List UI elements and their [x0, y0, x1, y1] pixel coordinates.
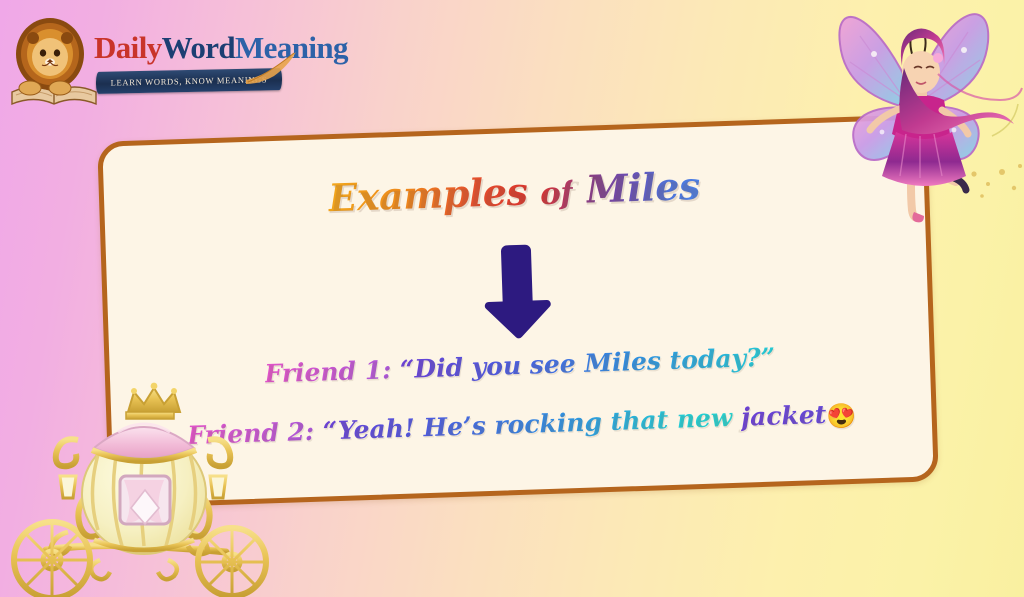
- speaker-label-2: Friend 2:: [187, 417, 315, 450]
- content-card: Examples of Miles Friend 1: “Did you see…: [97, 114, 939, 508]
- feather-icon: [244, 50, 298, 90]
- title-word-of: of: [540, 175, 574, 212]
- brand-logo: DailyWordMeaning Learn Words, Know Meani…: [8, 6, 288, 116]
- down-arrow-icon: [479, 240, 556, 342]
- quote-text-1: “Did you see Miles today?”: [400, 343, 776, 384]
- quote-text-2b: jacket: [741, 400, 827, 432]
- slide-canvas: DailyWordMeaning Learn Words, Know Meani…: [0, 0, 1024, 597]
- title-word-miles: Miles: [585, 163, 700, 212]
- brand-name-word: Word: [162, 30, 235, 65]
- title-word-examples: Examples: [328, 169, 528, 221]
- speaker-label-1: Friend 1:: [264, 355, 392, 388]
- heart-eyes-emoji-icon: 😍: [826, 401, 857, 431]
- card-inner: Examples of Miles Friend 1: “Did you see…: [102, 120, 933, 504]
- dialogue-block: Friend 1: “Did you see Miles today?” Fri…: [109, 335, 932, 456]
- page-title: Examples of Miles: [104, 155, 925, 227]
- arrow-container: [106, 227, 929, 354]
- quote-text-2a: “Yeah! He’s rocking that new: [322, 403, 732, 446]
- brand-wordmark: DailyWordMeaning: [94, 32, 348, 63]
- lion-icon: [8, 12, 100, 112]
- brand-name-daily: Daily: [94, 30, 162, 65]
- dialogue-line-2: Friend 2: “Yeah! He’s rocking that new j…: [111, 394, 932, 456]
